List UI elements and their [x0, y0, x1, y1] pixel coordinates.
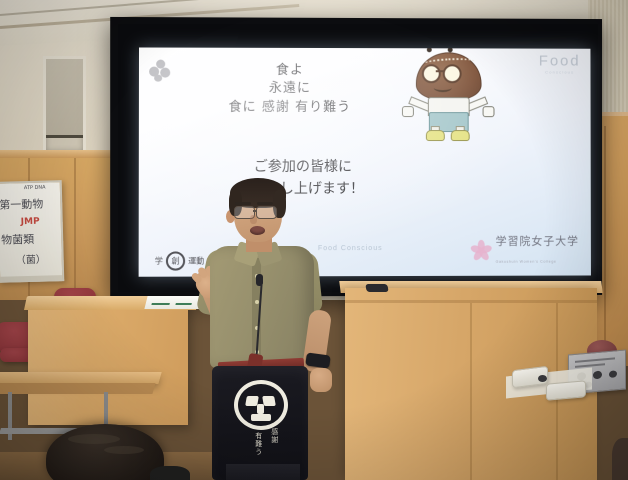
counter-seam [470, 303, 472, 480]
presenter-right-hand [310, 368, 332, 392]
apron-calligraphy-primary: 感謝 [270, 428, 278, 444]
gakushuin-logo: 学習院女子大学 Gakushuin Women's College [471, 232, 579, 268]
eyeglasses-icon [256, 206, 277, 219]
presenter-lower-garment [226, 464, 300, 480]
gakushuin-logo-subtitle: Gakushuin Women's College [496, 260, 557, 264]
sakura-flower-icon [471, 240, 491, 260]
window-blind [46, 59, 83, 136]
presenter-apron: 感謝 有難う [212, 366, 308, 480]
whiteboard: ATP DNA 第一動物 JMP 物菌類 （菌） [0, 180, 64, 283]
wainscot-seam [74, 158, 76, 300]
slide-poem: 食よ 永遠に 食に 感謝 有り難う [139, 62, 440, 118]
audience-partial-right [612, 438, 628, 480]
clam-mascot-icon [398, 47, 496, 154]
food-logo-subtitle: Conscious [539, 69, 581, 74]
wall-window [43, 56, 86, 154]
desk-microphone-icon [365, 284, 388, 292]
poem-line-3: 食に 感謝 有り難う [139, 99, 440, 118]
daruma-face-design-icon [234, 380, 288, 430]
gakushuin-logo-text: 学習院女子大学 [496, 235, 579, 248]
audience-shoulder [150, 466, 190, 480]
presenter-nose [250, 215, 257, 224]
presenter-eyebrow [257, 202, 273, 205]
right-wood-seam [604, 126, 606, 362]
lectern [28, 300, 188, 425]
lecture-hall-photo: Food Conscious 食よ 永遠に 食に 感謝 有り難う ご参加の皆様に… [0, 0, 628, 480]
blind-bottom-bar [46, 135, 83, 138]
whiteboard-top-note: ATP DNA [24, 185, 46, 192]
whiteboard-line-1: 第一動物 [0, 196, 43, 213]
paper-tray [546, 380, 586, 400]
whiteboard-line-3: 物菌類 [1, 231, 34, 248]
presenter-mouth-speaking [250, 226, 265, 235]
apron-calligraphy-secondary: 有難う [254, 432, 262, 456]
message-line-1: ご参加の皆様に [254, 156, 530, 178]
presenter-eyebrow [235, 202, 251, 205]
whiteboard-line-4: （菌） [16, 251, 46, 267]
tray-utensil [538, 375, 547, 382]
food-logo: Food Conscious [539, 53, 581, 75]
poem-line-1: 食よ [139, 62, 440, 81]
gakken-logo-mark-icon: 創 [166, 251, 185, 270]
eyeglasses-bridge [253, 210, 257, 212]
food-logo-text: Food [539, 53, 581, 70]
presenter: 感謝 有難う [196, 178, 360, 480]
gakken-logo-prefix: 学 [155, 256, 163, 267]
whiteboard-red-text: JMP [21, 217, 40, 227]
front-desk-apron [0, 383, 156, 394]
poem-line-2: 永遠に [139, 80, 440, 99]
